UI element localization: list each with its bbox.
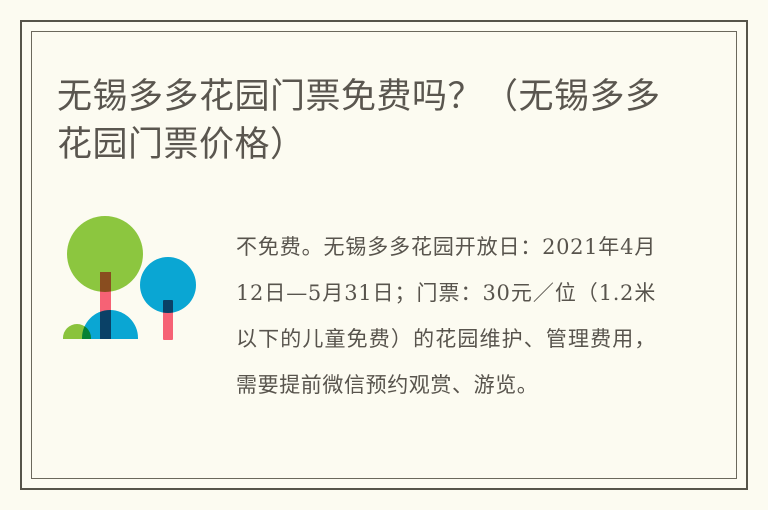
article-body: 不免费。无锡多多花园开放日：2021年4月12日—5月31日；门票：30元／位（… [236,224,656,408]
park-trees-svg [63,208,223,358]
article-content: 不免费。无锡多多花园开放日：2021年4月12日—5月31日；门票：30元／位（… [57,200,687,460]
main-trunk [100,272,111,339]
small-green-bush [63,324,91,352]
right-trunk [163,300,173,340]
page-root: 无锡多多花园门票免费吗？（无锡多多花园门票价格） [0,0,768,510]
park-trees-illustration [63,208,223,358]
page-title: 无锡多多花园门票免费吗？（无锡多多花园门票价格） [57,73,677,169]
